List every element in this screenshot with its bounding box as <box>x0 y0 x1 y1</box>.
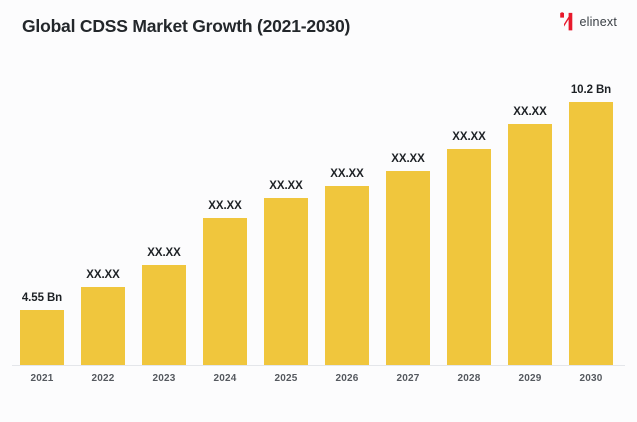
bar-chart-plot: 4.55 Bn XX.XX XX.XX XX.XX XX.XX XX.XX <box>0 56 637 422</box>
x-tick-2029: 2029 <box>508 373 552 384</box>
bar-group-2029: XX.XX <box>508 56 552 365</box>
bar-group-2027: XX.XX <box>386 56 430 365</box>
bar-value-label-2030: 10.2 Bn <box>571 84 611 96</box>
x-tick-2026: 2026 <box>325 373 369 384</box>
bar-group-2025: XX.XX <box>264 56 308 365</box>
page-title: Global CDSS Market Growth (2021-2030) <box>22 16 350 37</box>
x-tick-2021: 2021 <box>20 373 64 384</box>
x-tick-2023: 2023 <box>142 373 186 384</box>
bar-group-2022: XX.XX <box>81 56 125 365</box>
bar-2021[interactable] <box>20 310 64 365</box>
x-axis-line <box>12 365 625 366</box>
x-tick-2024: 2024 <box>203 373 247 384</box>
bar-group-2028: XX.XX <box>447 56 491 365</box>
bar-2025[interactable] <box>264 198 308 365</box>
x-tick-2022: 2022 <box>81 373 125 384</box>
brand-name-label: elinext <box>579 15 617 29</box>
bar-2023[interactable] <box>142 265 186 365</box>
bar-value-label-2029: XX.XX <box>513 106 546 118</box>
bar-group-2021: 4.55 Bn <box>20 56 64 365</box>
chart-page: Global CDSS Market Growth (2021-2030) el… <box>0 0 637 422</box>
bar-value-label-2028: XX.XX <box>452 131 485 143</box>
bar-value-label-2021: 4.55 Bn <box>22 292 62 304</box>
bar-2030[interactable] <box>569 102 613 365</box>
x-axis-tick-labels: 2021 2022 2023 2024 2025 2026 2027 2028 … <box>20 373 617 393</box>
bar-series: 4.55 Bn XX.XX XX.XX XX.XX XX.XX XX.XX <box>20 56 617 365</box>
bar-value-label-2027: XX.XX <box>391 153 424 165</box>
bar-value-label-2022: XX.XX <box>86 269 119 281</box>
bar-2027[interactable] <box>386 171 430 365</box>
x-tick-2025: 2025 <box>264 373 308 384</box>
bar-value-label-2026: XX.XX <box>330 168 363 180</box>
bar-2028[interactable] <box>447 149 491 365</box>
elinext-n-logo-icon <box>559 12 574 31</box>
bar-group-2023: XX.XX <box>142 56 186 365</box>
chart-header: Global CDSS Market Growth (2021-2030) el… <box>0 0 637 56</box>
bar-value-label-2023: XX.XX <box>147 247 180 259</box>
bar-2029[interactable] <box>508 124 552 365</box>
x-tick-2028: 2028 <box>447 373 491 384</box>
bar-2024[interactable] <box>203 218 247 365</box>
bar-2026[interactable] <box>325 186 369 365</box>
bar-value-label-2024: XX.XX <box>208 200 241 212</box>
x-tick-2030: 2030 <box>569 373 613 384</box>
bar-value-label-2025: XX.XX <box>269 180 302 192</box>
bar-2022[interactable] <box>81 287 125 365</box>
bar-group-2024: XX.XX <box>203 56 247 365</box>
bar-group-2030: 10.2 Bn <box>569 56 613 365</box>
brand-logo: elinext <box>559 12 617 31</box>
bar-group-2026: XX.XX <box>325 56 369 365</box>
x-tick-2027: 2027 <box>386 373 430 384</box>
